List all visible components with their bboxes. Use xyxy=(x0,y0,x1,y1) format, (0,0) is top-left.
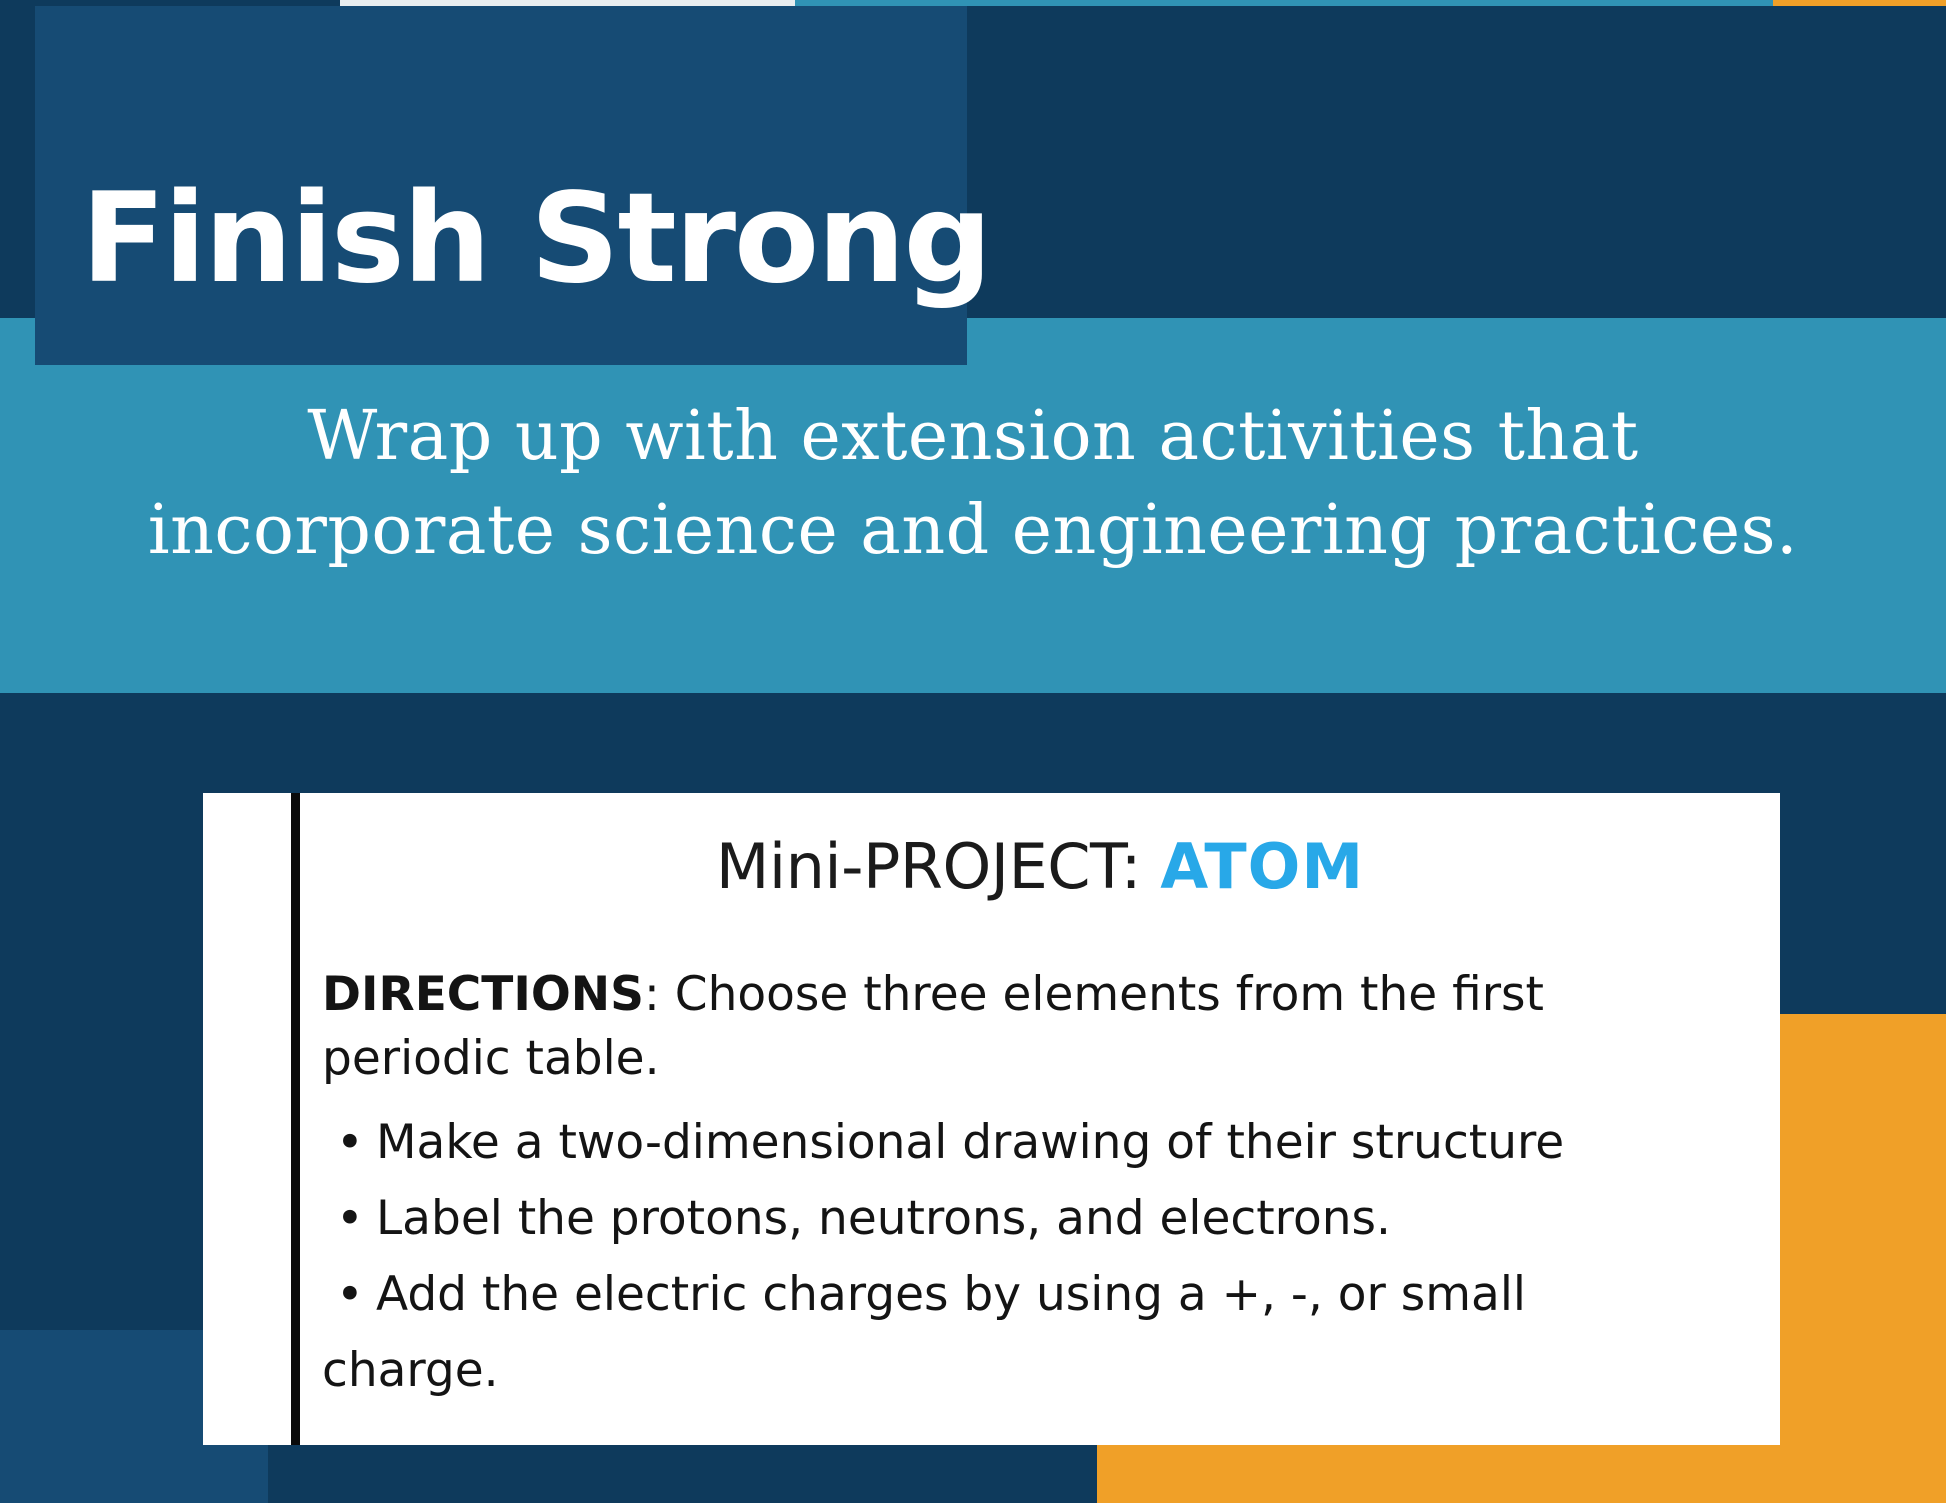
background-block-navy-left-edge xyxy=(0,6,35,318)
title-block: Finish Strong xyxy=(35,6,967,365)
document-directions-label: DIRECTIONS xyxy=(322,967,644,1022)
document-directions-text: : Choose three elements from the first xyxy=(644,967,1544,1022)
document-bullet-text: Make a two-dimensional drawing of their … xyxy=(376,1115,1564,1170)
slide-title: Finish Strong xyxy=(81,177,990,301)
document-directions-line-2: periodic table. xyxy=(322,1027,1780,1091)
slide-subtitle: Wrap up with extension activities that i… xyxy=(0,390,1946,578)
document-bullet-text: Label the protons, neutrons, and electro… xyxy=(376,1191,1391,1246)
document-bullet-text: Add the electric charges by using a +, -… xyxy=(376,1267,1526,1322)
bullet-dot-icon: • xyxy=(336,1111,364,1175)
subtitle-line-1: Wrap up with extension activities that xyxy=(0,390,1946,484)
document-body: DIRECTIONS: Choose three elements from t… xyxy=(322,963,1780,1414)
subtitle-line-2: incorporate science and engineering prac… xyxy=(0,484,1946,578)
document-bullet-continuation: charge. xyxy=(322,1339,1780,1403)
document-heading-prefix: Mini-PROJECT: xyxy=(716,830,1141,903)
background-block-orange-right xyxy=(1773,1014,1946,1503)
document-bullet-item: • Add the electric charges by using a +,… xyxy=(322,1263,1780,1327)
background-block-navy-bottom xyxy=(268,1445,1097,1503)
document-heading: Mini-PROJECT: ATOM xyxy=(300,830,1780,903)
bullet-dot-icon: • xyxy=(336,1263,364,1327)
document-bullet-list: • Make a two-dimensional drawing of thei… xyxy=(322,1111,1780,1403)
top-strip-orange xyxy=(1773,0,1946,6)
document-directions-line-1: DIRECTIONS: Choose three elements from t… xyxy=(322,963,1780,1027)
bullet-dot-icon: • xyxy=(336,1187,364,1251)
document-bullet-item: • Make a two-dimensional drawing of thei… xyxy=(322,1111,1780,1175)
document-bullet-item: • Label the protons, neutrons, and elect… xyxy=(322,1187,1780,1251)
document-image-card[interactable]: Mini-PROJECT: ATOM DIRECTIONS: Choose th… xyxy=(203,793,1780,1445)
document-margin-rule xyxy=(291,793,300,1445)
document-content: Mini-PROJECT: ATOM DIRECTIONS: Choose th… xyxy=(300,793,1780,1445)
slide-canvas: Finish Strong Wrap up with extension act… xyxy=(0,0,1946,1503)
document-heading-highlight: ATOM xyxy=(1160,830,1364,903)
background-block-orange-bottom xyxy=(1097,1445,1946,1503)
